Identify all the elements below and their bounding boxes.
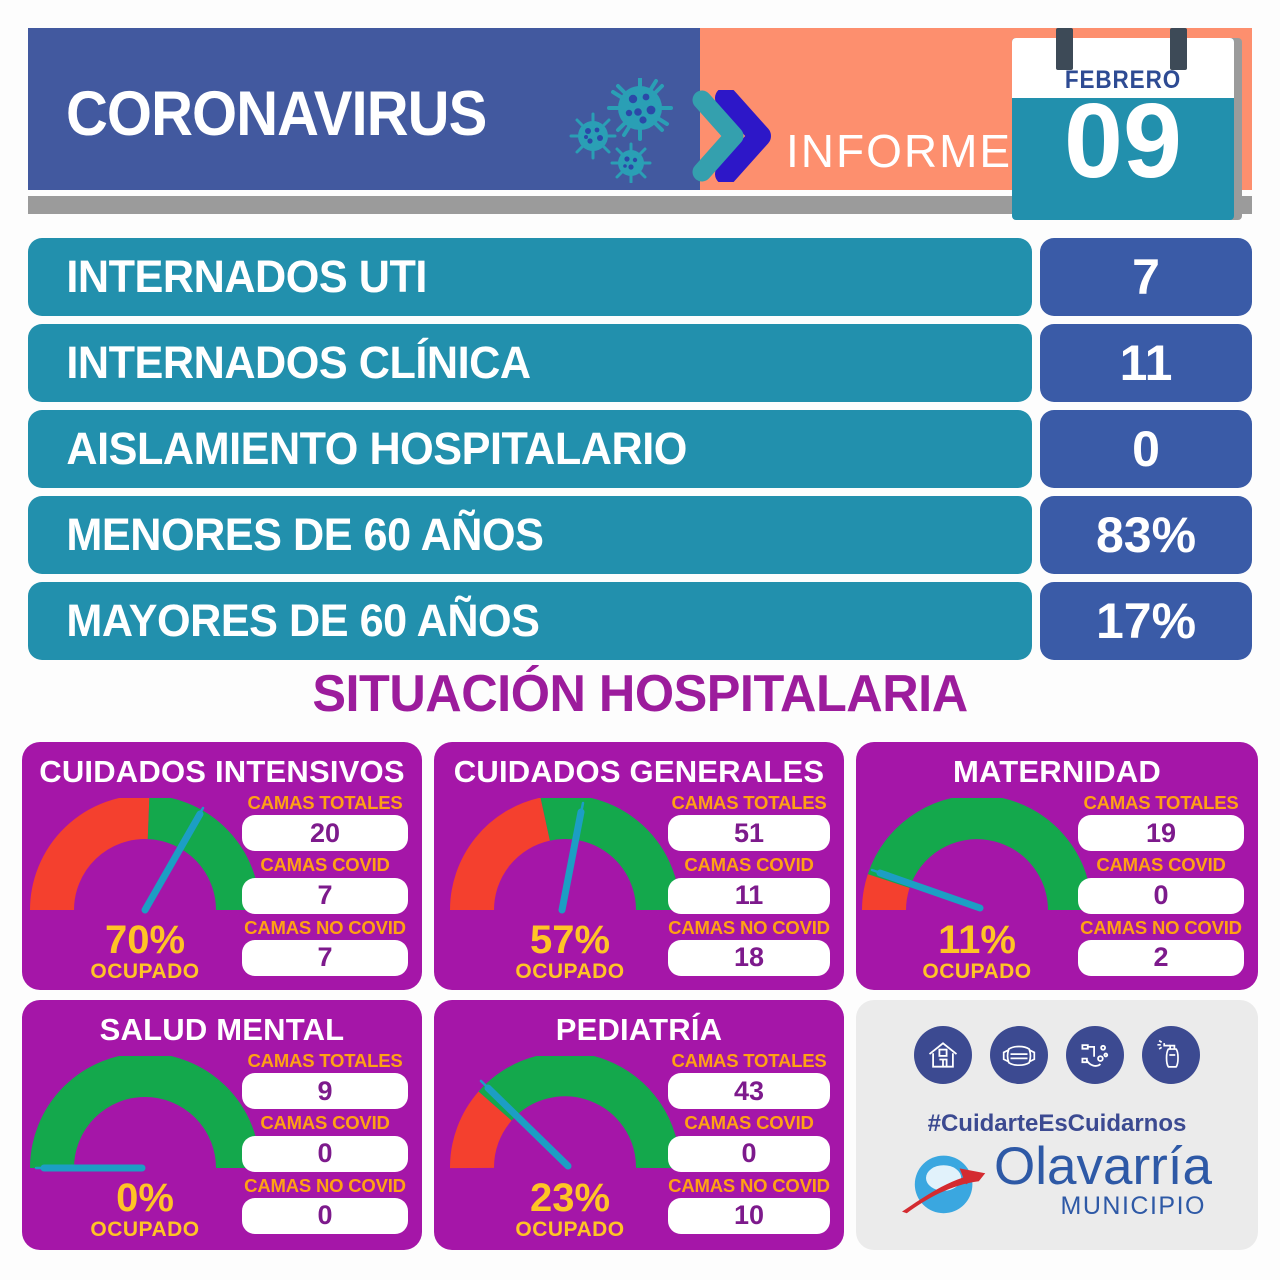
beds-nocovid-value: 18 xyxy=(668,940,830,976)
beds-covid-label: CAMAS COVID xyxy=(668,854,830,875)
beds-nocovid-label: CAMAS NO COVID xyxy=(1078,917,1244,938)
gauge-card-cuidados-intensivos: CUIDADOS INTENSIVOS 70% OCUPADO CAMAS TO… xyxy=(22,742,422,990)
beds-total-value: 43 xyxy=(668,1073,830,1109)
stat-label-text: INTERNADOS UTI xyxy=(28,251,427,303)
gauge-chart xyxy=(30,798,260,922)
occupancy-label: OCUPADO xyxy=(450,1218,690,1242)
beds-nocovid-label: CAMAS NO COVID xyxy=(242,1175,408,1196)
card-title: MATERNIDAD xyxy=(856,754,1258,790)
infographic-page: CORONAVIRUS xyxy=(0,0,1280,1280)
beds-nocovid-value: 7 xyxy=(242,940,408,976)
card-title: CUIDADOS INTENSIVOS xyxy=(22,754,422,790)
footer-panel: #CuidarteEsCuidarnos Olavarría MUNICIPIO xyxy=(856,1000,1258,1250)
stat-value-box: 7 xyxy=(1040,238,1252,316)
header-subtitle: INFORME xyxy=(786,124,1012,178)
gauge-chart xyxy=(450,1056,690,1180)
beds-total-label: CAMAS TOTALES xyxy=(668,1050,830,1071)
gauge-chart xyxy=(450,798,690,922)
beds-nocovid-label: CAMAS NO COVID xyxy=(242,917,408,938)
occupancy-label: OCUPADO xyxy=(862,960,1092,984)
beds-panel: CAMAS TOTALES 43 CAMAS COVID 0 CAMAS NO … xyxy=(668,1050,830,1237)
beds-total-label: CAMAS TOTALES xyxy=(242,792,408,813)
stat-label-text: MAYORES DE 60 AÑOS xyxy=(28,595,540,647)
beds-covid-value: 11 xyxy=(668,878,830,914)
stat-row: INTERNADOS CLÍNICA 11 xyxy=(28,324,1252,402)
stat-label-box: INTERNADOS CLÍNICA xyxy=(28,324,1032,402)
section-title: SITUACIÓN HOSPITALARIA xyxy=(19,664,1261,724)
beds-covid-value: 0 xyxy=(1078,878,1244,914)
beds-nocovid-value: 0 xyxy=(242,1198,408,1234)
beds-total-value: 20 xyxy=(242,815,408,851)
logo-mark xyxy=(902,1146,990,1218)
gauge-card-maternidad: MATERNIDAD 11% OCUPADO CAMAS TOTALES 19 … xyxy=(856,742,1258,990)
beds-panel: CAMAS TOTALES 9 CAMAS COVID 0 CAMAS NO C… xyxy=(242,1050,408,1237)
stat-label-text: INTERNADOS CLÍNICA xyxy=(28,337,531,389)
mask-icon xyxy=(990,1026,1048,1084)
occupancy-percent: 57% xyxy=(450,920,690,960)
stat-label-box: AISLAMIENTO HOSPITALARIO xyxy=(28,410,1032,488)
stat-label-text: MENORES DE 60 AÑOS xyxy=(28,509,543,561)
beds-panel: CAMAS TOTALES 20 CAMAS COVID 7 CAMAS NO … xyxy=(242,792,408,979)
beds-total-value: 51 xyxy=(668,815,830,851)
occupancy-label: OCUPADO xyxy=(450,960,690,984)
gauge-chart xyxy=(30,1056,260,1180)
stat-label-box: MENORES DE 60 AÑOS xyxy=(28,496,1032,574)
brand-subtitle: MUNICIPIO xyxy=(994,1192,1212,1221)
card-title: SALUD MENTAL xyxy=(22,1012,422,1048)
beds-total-value: 19 xyxy=(1078,815,1244,851)
beds-covid-label: CAMAS COVID xyxy=(668,1112,830,1133)
beds-panel: CAMAS TOTALES 19 CAMAS COVID 0 CAMAS NO … xyxy=(1078,792,1244,979)
gauge-card-salud-mental: SALUD MENTAL 0% OCUPADO CAMAS TOTALES 9 … xyxy=(22,1000,422,1250)
card-title: CUIDADOS GENERALES xyxy=(434,754,844,790)
card-title: PEDIATRÍA xyxy=(434,1012,844,1048)
spray-bottle-icon xyxy=(1142,1026,1200,1084)
stat-label-box: INTERNADOS UTI xyxy=(28,238,1032,316)
occupancy-label: OCUPADO xyxy=(30,1218,260,1242)
stat-value-box: 0 xyxy=(1040,410,1252,488)
beds-total-value: 9 xyxy=(242,1073,408,1109)
beds-covid-label: CAMAS COVID xyxy=(1078,854,1244,875)
stat-label-box: MAYORES DE 60 AÑOS xyxy=(28,582,1032,660)
calendar-body: FEBRERO 09 xyxy=(1012,38,1234,220)
hashtag-text: #CuidarteEsCuidarnos xyxy=(856,1110,1258,1138)
house-icon xyxy=(914,1026,972,1084)
occupancy-label: OCUPADO xyxy=(30,960,260,984)
double-chevron-icon xyxy=(688,90,778,182)
logo-text: Olavarría MUNICIPIO xyxy=(994,1142,1212,1221)
stat-row: MENORES DE 60 AÑOS 83% xyxy=(28,496,1252,574)
stat-value-box: 17% xyxy=(1040,582,1252,660)
occupancy-percent: 11% xyxy=(862,920,1092,960)
beds-nocovid-label: CAMAS NO COVID xyxy=(668,1175,830,1196)
gauge-chart xyxy=(862,798,1092,922)
beds-panel: CAMAS TOTALES 51 CAMAS COVID 11 CAMAS NO… xyxy=(668,792,830,979)
beds-total-label: CAMAS TOTALES xyxy=(242,1050,408,1071)
beds-nocovid-value: 10 xyxy=(668,1198,830,1234)
stat-value-box: 11 xyxy=(1040,324,1252,402)
stat-label-text: AISLAMIENTO HOSPITALARIO xyxy=(28,423,687,475)
gauge-card-cuidados-generales: CUIDADOS GENERALES 57% OCUPADO CAMAS TOT… xyxy=(434,742,844,990)
prevention-icons xyxy=(856,1026,1258,1084)
beds-covid-value: 0 xyxy=(668,1136,830,1172)
beds-nocovid-value: 2 xyxy=(1078,940,1244,976)
occupancy-percent: 70% xyxy=(30,920,260,960)
beds-covid-value: 0 xyxy=(242,1136,408,1172)
beds-covid-label: CAMAS COVID xyxy=(242,1112,408,1133)
calendar-ring-right xyxy=(1170,28,1187,70)
calendar-day: 09 xyxy=(1012,88,1234,194)
beds-covid-label: CAMAS COVID xyxy=(242,854,408,875)
occupancy-percent: 0% xyxy=(30,1178,260,1218)
stat-value-box: 83% xyxy=(1040,496,1252,574)
stat-row: AISLAMIENTO HOSPITALARIO 0 xyxy=(28,410,1252,488)
page-title: CORONAVIRUS xyxy=(66,78,486,150)
calendar-ring-left xyxy=(1056,28,1073,70)
stat-row: MAYORES DE 60 AÑOS 17% xyxy=(28,582,1252,660)
virus-particles-icon xyxy=(568,78,698,183)
stats-list: INTERNADOS UTI 7 INTERNADOS CLÍNICA 11 A… xyxy=(28,238,1252,668)
beds-total-label: CAMAS TOTALES xyxy=(1078,792,1244,813)
municipal-logo: Olavarría MUNICIPIO xyxy=(856,1142,1258,1221)
beds-total-label: CAMAS TOTALES xyxy=(668,792,830,813)
stat-row: INTERNADOS UTI 7 xyxy=(28,238,1252,316)
beds-covid-value: 7 xyxy=(242,878,408,914)
brand-name: Olavarría xyxy=(994,1142,1212,1192)
handwash-icon xyxy=(1066,1026,1124,1084)
occupancy-percent: 23% xyxy=(450,1178,690,1218)
date-calendar-badge: FEBRERO 09 xyxy=(1012,28,1234,210)
gauge-card-pediatria: PEDIATRÍA 23% OCUPADO CAMAS TOTALES 43 C… xyxy=(434,1000,844,1250)
beds-nocovid-label: CAMAS NO COVID xyxy=(668,917,830,938)
